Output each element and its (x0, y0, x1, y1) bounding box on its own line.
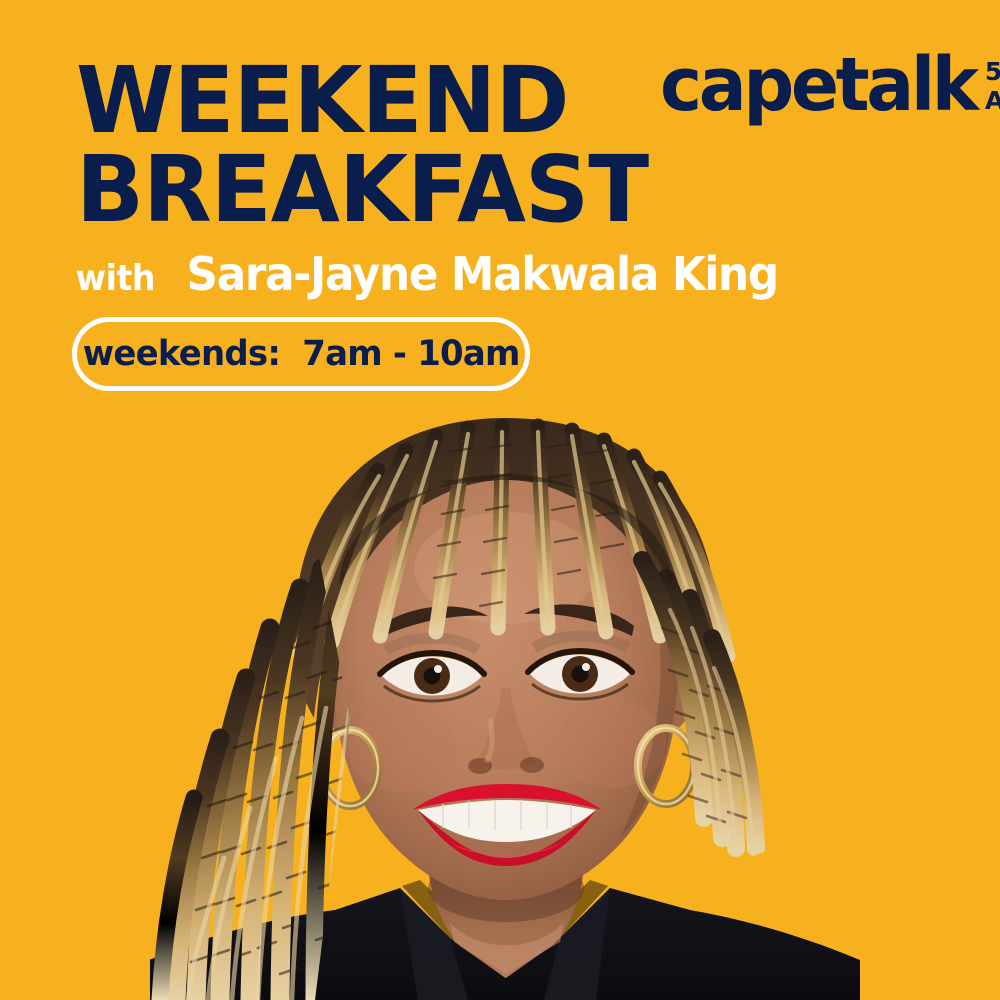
host-portrait-illustration (150, 418, 860, 1000)
host-name: Sara-Jayne Makwala King (187, 247, 778, 301)
show-title-line-1: WEEKEND (76, 56, 648, 145)
host-credit-prefix: with (75, 258, 155, 299)
schedule-pill: weekends: 7am - 10am (72, 317, 530, 391)
host-portrait (150, 418, 860, 1000)
capetalk-logo[interactable]: capetalk 567 AM (660, 55, 1000, 116)
poster-canvas: capetalk 567 AM WEEKEND BREAKFAST with S… (0, 0, 1000, 1000)
schedule-text: weekends: 7am - 10am (83, 334, 520, 374)
host-credit: with Sara-Jayne Makwala King (72, 247, 794, 301)
logo-wordmark: capetalk (660, 55, 976, 116)
logo-frequency: 567 AM (985, 57, 1000, 115)
show-title: WEEKEND BREAKFAST (76, 56, 666, 234)
show-title-line-2: BREAKFAST (76, 145, 648, 234)
